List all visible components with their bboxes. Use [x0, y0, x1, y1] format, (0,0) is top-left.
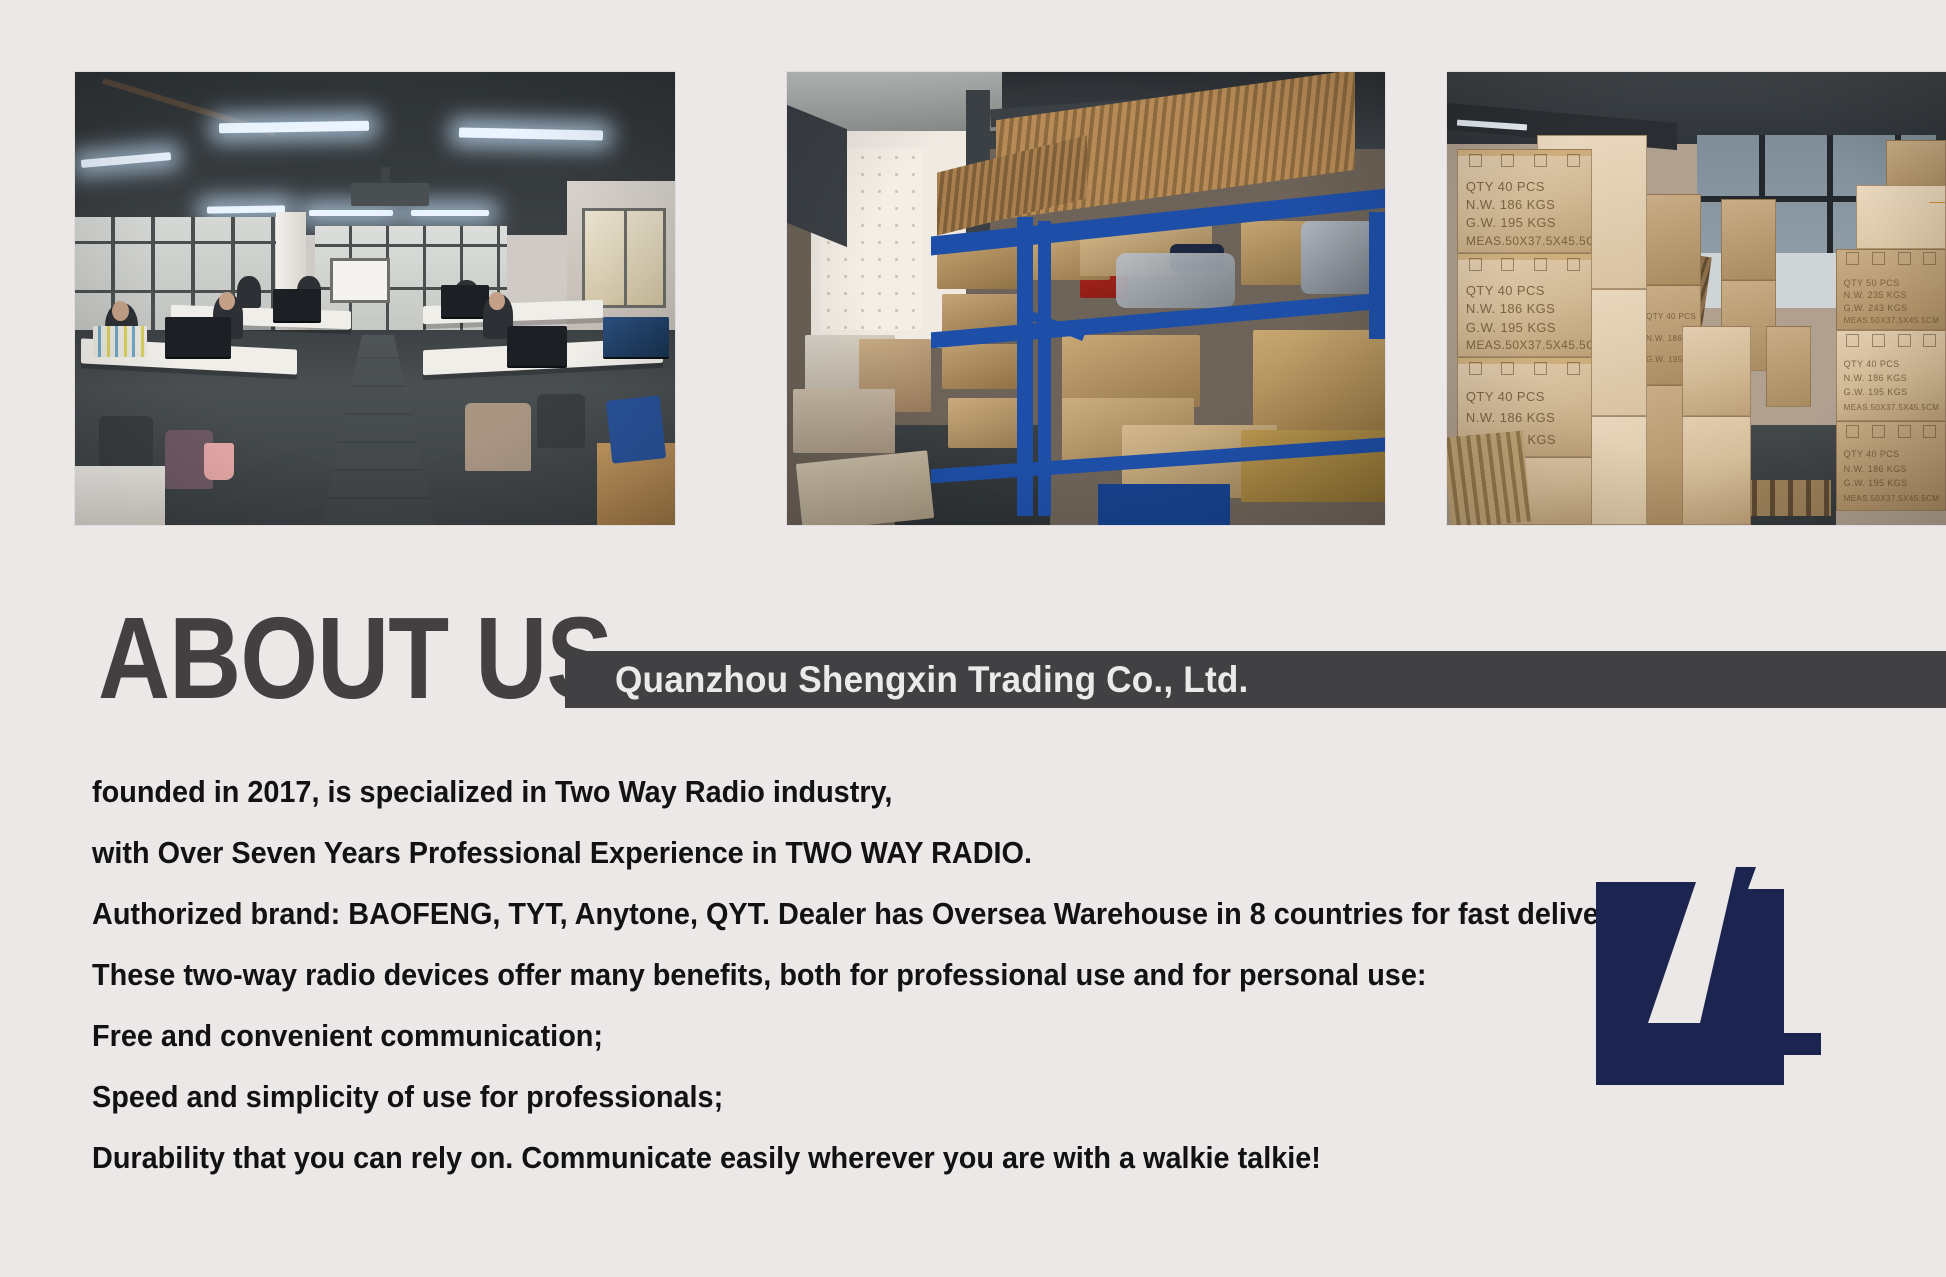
- dark-panel: [787, 105, 847, 247]
- light-tube: [309, 210, 393, 216]
- carton-label-gw: G.W. 195 KGS: [1844, 477, 1939, 490]
- light-tube: [411, 210, 489, 216]
- person-head: [219, 292, 235, 311]
- body-line: Authorized brand: BAOFENG, TYT, Anytone,…: [92, 898, 1441, 929]
- body-line: Durability that you can rely on. Communi…: [92, 1142, 1441, 1173]
- window: [582, 208, 666, 308]
- blue-bag: [606, 396, 666, 465]
- carton-label-nw: N.W. 186 KGS: [1844, 372, 1939, 385]
- shelf-upright: [1017, 217, 1033, 516]
- office-photo: [75, 72, 675, 525]
- carton-label-qty: QTY 40 PCS: [1844, 448, 1939, 461]
- carton-label-nw: N.W. 186 KGS: [1466, 409, 1583, 428]
- body-line: Speed and simplicity of use for professi…: [92, 1081, 1441, 1112]
- monitor: [273, 289, 321, 321]
- document-rack: [93, 326, 147, 358]
- carton-stacks-photo: QTY 50 PCS N.W. 235 KGS G.W. 243 KGS MEA…: [1447, 72, 1946, 525]
- carton: [1682, 416, 1752, 525]
- handling-symbols: [1469, 259, 1581, 270]
- warehouse-scene: [787, 72, 1385, 525]
- carton-label-gw: G.W. 195 KGS: [1466, 214, 1583, 233]
- carton: [948, 398, 1026, 448]
- body-line: Free and convenient communication;: [92, 1020, 1441, 1051]
- monitor: [165, 317, 231, 358]
- carton-label-qty: QTY 40 PCS: [1646, 311, 1697, 323]
- body-line: with Over Seven Years Professional Exper…: [92, 837, 1441, 868]
- carton: QTY 40 PCS N.W. 186 KGS G.W. 195 KGS MEA…: [1836, 421, 1946, 512]
- handling-symbols: [1846, 254, 1937, 263]
- handling-symbols: [1846, 336, 1937, 346]
- blue-crate: [1098, 484, 1230, 525]
- carton-label-gw: G.W. 243 KGS: [1844, 302, 1939, 315]
- photo-strip: QTY 50 PCS N.W. 235 KGS G.W. 243 KGS MEA…: [0, 0, 1946, 560]
- carton-label-nw: N.W. 186 KGS: [1466, 300, 1583, 319]
- carton-label-meas: MEAS.50X37.5X45.5CM: [1844, 493, 1939, 505]
- handling-symbols: [1469, 363, 1581, 374]
- about-body-copy: founded in 2017, is specialized in Two W…: [92, 776, 1542, 1203]
- carton: [1886, 140, 1946, 190]
- carton: [1253, 330, 1385, 439]
- handling-symbols: [1846, 426, 1937, 436]
- carton: [1062, 335, 1200, 407]
- amazon-box: [793, 389, 895, 452]
- person-head: [112, 301, 129, 321]
- warehouse-shelving-photo: [787, 72, 1385, 525]
- body-line: founded in 2017, is specialized in Two W…: [92, 776, 1441, 807]
- carton-label-meas: MEAS.50X37.5X45.5CM: [1466, 337, 1583, 354]
- monitor: [441, 285, 489, 317]
- waste-bin: [204, 443, 234, 479]
- carton-label-qty: QTY 40 PCS: [1844, 358, 1939, 371]
- company-name: Quanzhou Shengxin Trading Co., Ltd.: [615, 661, 1248, 698]
- floor-carton: [796, 450, 934, 525]
- air-duct: [351, 183, 429, 206]
- carton-label-gw: G.W. 195 KGS: [1844, 386, 1939, 399]
- carton-label-nw: N.W. 186 KGS: [1844, 463, 1939, 476]
- person-head: [489, 292, 505, 311]
- carton-label-qty: QTY 50 PCS: [1844, 277, 1939, 290]
- carton: QTY 40 PCS N.W. 186 KGS G.W. 195 KGS MEA…: [1457, 253, 1592, 357]
- carton: [1682, 326, 1752, 417]
- carton: [1766, 326, 1811, 408]
- carton-label-qty: QTY 40 PCS: [1466, 282, 1583, 301]
- carton: [1721, 199, 1776, 281]
- poly-bagged-goods: [1116, 253, 1236, 307]
- carton: QTY 50 PCS N.W. 235 KGS G.W. 243 KGS MEA…: [1836, 249, 1946, 331]
- monitor: [603, 317, 669, 358]
- carton-label-qty: QTY 40 PCS: [1466, 178, 1583, 197]
- carton-label-meas: MEAS.50X37.5X45.5CM: [1466, 233, 1583, 250]
- carton-label-meas: MEAS.50X37.5X45.5CM: [1844, 315, 1939, 327]
- monitor: [507, 326, 567, 367]
- logo-icon: [1588, 845, 1838, 1090]
- office-scene: [75, 72, 675, 525]
- floor-box: [75, 466, 165, 525]
- carton-scene: QTY 50 PCS N.W. 235 KGS G.W. 243 KGS MEA…: [1447, 72, 1946, 525]
- carton: QTY 40 PCS N.W. 186 KGS G.W. 195 KGS MEA…: [1836, 330, 1946, 421]
- shelf-upright: [1369, 212, 1385, 339]
- carton-label-gw: G.W. 195 KGS: [1466, 319, 1583, 338]
- company-name-bar: Quanzhou Shengxin Trading Co., Ltd.: [565, 651, 1946, 708]
- carton-label-meas: MEAS.50X37.5X45.5CM: [1844, 402, 1939, 414]
- carton-label-nw: N.W. 235 KGS: [1844, 289, 1939, 302]
- light-tube: [207, 205, 285, 213]
- carton-label-nw: N.W. 186 KGS: [1466, 196, 1583, 215]
- about-us-page: QTY 50 PCS N.W. 235 KGS G.W. 243 KGS MEA…: [0, 0, 1946, 1277]
- shengxin-logo: [1588, 845, 1838, 1090]
- carton-label-qty: QTY 40 PCS: [1466, 388, 1583, 407]
- carton: [942, 344, 1026, 389]
- page-title: ABOUT US: [98, 600, 612, 716]
- office-chair: [99, 416, 153, 470]
- office-chair: [465, 403, 531, 471]
- office-chair: [537, 394, 585, 448]
- heading-row: ABOUT US Quanzhou Shengxin Trading Co., …: [0, 600, 1946, 720]
- carton: [1856, 185, 1946, 248]
- shelf-upright: [1038, 221, 1051, 515]
- carton: QTY 40 PCS N.W. 186 KGS G.W. 195 KGS MEA…: [1457, 149, 1592, 253]
- tape-strip: [1929, 202, 1945, 204]
- whiteboard: [330, 258, 390, 303]
- body-line: These two-way radio devices offer many b…: [92, 959, 1441, 990]
- flat-cardboard-stack: [1447, 431, 1531, 525]
- handling-symbols: [1469, 155, 1581, 166]
- carton: [1642, 194, 1702, 285]
